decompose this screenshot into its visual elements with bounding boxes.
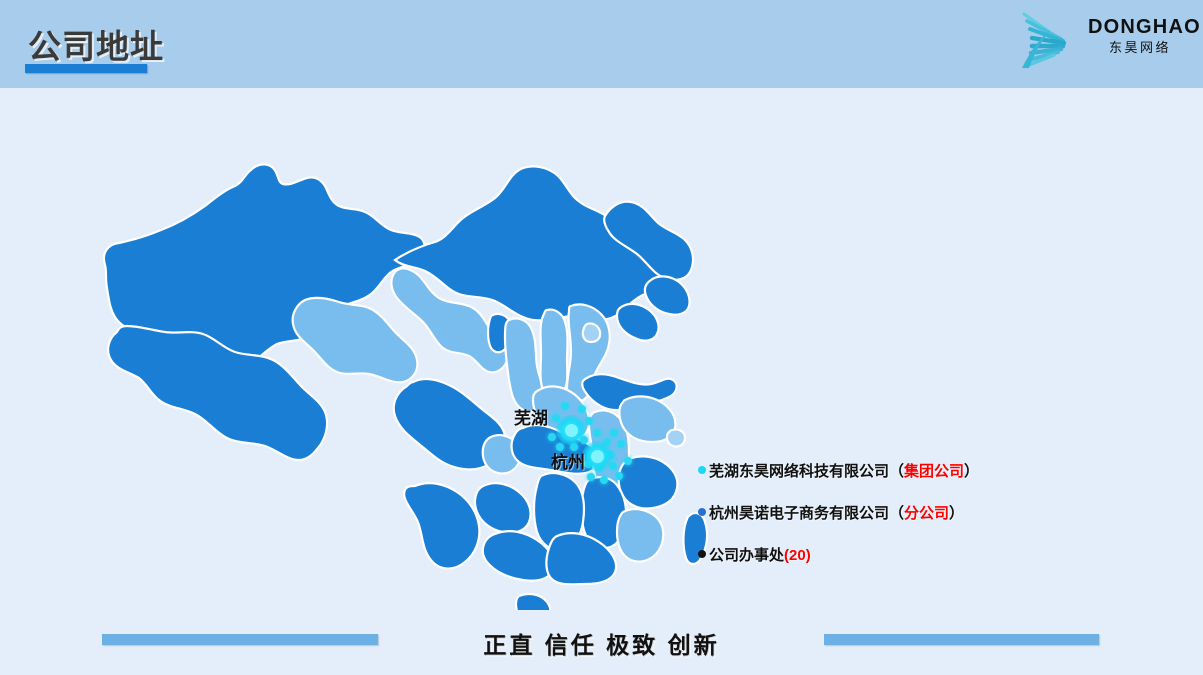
office-marker bbox=[600, 476, 608, 484]
city-marker-core bbox=[565, 424, 578, 437]
legend-item-highlight: 分公司 bbox=[904, 505, 949, 522]
legend-item-highlight: 集团公司 bbox=[904, 463, 964, 480]
china-map-svg bbox=[95, 120, 715, 610]
office-marker bbox=[609, 462, 617, 470]
legend: 芜湖东昊网络科技有限公司（集团公司）杭州昊诺电子商务有限公司（分公司）公司办事处… bbox=[698, 460, 1028, 586]
company-logo: DONGHAO 东昊网络 bbox=[1016, 8, 1191, 70]
office-marker bbox=[548, 433, 556, 441]
office-marker bbox=[610, 429, 618, 437]
city-label-2: 杭州 bbox=[551, 448, 585, 473]
office-marker bbox=[624, 457, 632, 465]
office-marker bbox=[578, 405, 586, 413]
city-marker-core bbox=[591, 450, 604, 463]
company-slogan: 正直 信任 极致 创新 bbox=[0, 626, 1203, 660]
page-title: 公司地址 bbox=[28, 20, 164, 68]
legend-bullet-icon bbox=[698, 550, 706, 558]
legend-item-highlight: (20) bbox=[784, 547, 811, 564]
city-label-1: 芜湖 bbox=[514, 404, 548, 429]
logo-sub-name: 东昊网络 bbox=[1088, 39, 1192, 57]
office-marker bbox=[587, 473, 595, 481]
china-map-container: 芜湖杭州 bbox=[95, 120, 715, 610]
title-underline bbox=[25, 64, 147, 73]
logo-name: DONGHAO bbox=[1088, 16, 1192, 38]
legend-bullet-icon bbox=[698, 508, 706, 516]
office-marker bbox=[615, 472, 623, 480]
office-marker bbox=[617, 440, 625, 448]
legend-item-3: 公司办事处(20) bbox=[698, 544, 1028, 564]
office-marker bbox=[561, 402, 569, 410]
office-marker bbox=[593, 429, 601, 437]
logo-text-block: DONGHAO 东昊网络 bbox=[1088, 16, 1192, 57]
legend-item-label: 芜湖东昊网络科技有限公司（集团公司） bbox=[709, 460, 979, 481]
legend-item-label: 公司办事处(20) bbox=[709, 544, 811, 565]
legend-bullet-icon bbox=[698, 466, 706, 474]
office-marker bbox=[585, 417, 593, 425]
legend-item-2: 杭州昊诺电子商务有限公司（分公司） bbox=[698, 502, 1028, 522]
slide-header: 公司地址 DONGHAO 东昊网络 bbox=[0, 0, 1203, 88]
donghao-feather-logo-icon bbox=[1016, 8, 1088, 70]
legend-item-label: 杭州昊诺电子商务有限公司（分公司） bbox=[709, 502, 964, 523]
legend-item-1: 芜湖东昊网络科技有限公司（集团公司） bbox=[698, 460, 1028, 480]
